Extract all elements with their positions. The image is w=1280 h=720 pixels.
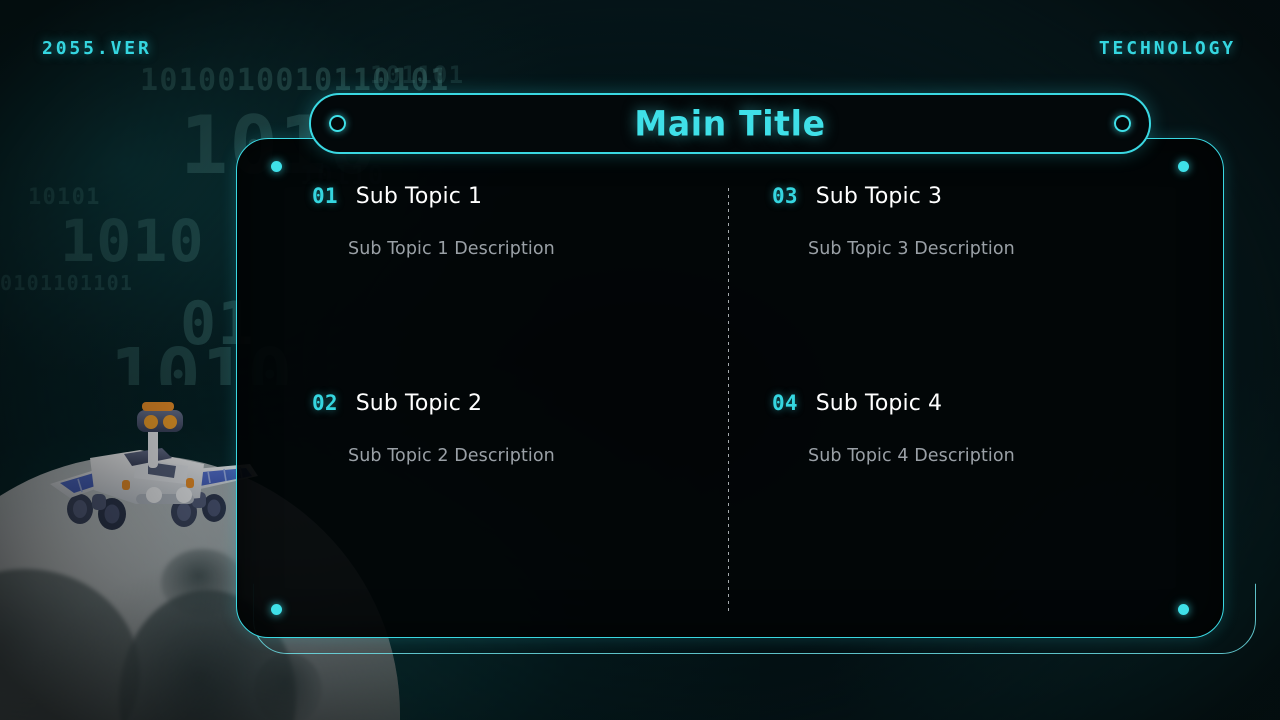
rover-chassis xyxy=(90,448,204,504)
moon-crater xyxy=(161,549,244,617)
topic-item-04[interactable]: 04 Sub Topic 4 Sub Topic 4 Description xyxy=(730,391,1224,598)
slide-canvas: 1010010010110101 1010 10101 1010 0101101… xyxy=(0,0,1280,720)
topic-number: 02 xyxy=(312,391,338,415)
topic-heading: 04 Sub Topic 4 xyxy=(772,391,1168,416)
topic-title: Sub Topic 3 xyxy=(816,184,942,209)
page-title: Main Title xyxy=(634,103,825,144)
moon-crater xyxy=(254,653,322,720)
binary-text-line: 10101 xyxy=(28,185,101,210)
rover-camera-mast xyxy=(137,402,183,468)
rover-solar-panel-left xyxy=(50,464,132,498)
topic-number: 03 xyxy=(772,184,798,208)
version-label: 2055.VER xyxy=(42,38,152,59)
ring-icon-left xyxy=(329,115,346,132)
column-divider xyxy=(728,188,729,614)
topic-description: Sub Topic 2 Description xyxy=(348,446,674,466)
topic-title: Sub Topic 2 xyxy=(356,391,482,416)
lunar-rover-illustration xyxy=(36,398,268,538)
topic-heading: 01 Sub Topic 1 xyxy=(312,184,674,209)
topic-item-01[interactable]: 01 Sub Topic 1 Sub Topic 1 Description xyxy=(236,184,730,391)
ring-icon-right xyxy=(1114,115,1131,132)
topic-heading: 03 Sub Topic 3 xyxy=(772,184,1168,209)
category-label: TECHNOLOGY xyxy=(1099,38,1236,59)
main-title-bar: Main Title xyxy=(309,93,1151,154)
topic-description: Sub Topic 4 Description xyxy=(808,446,1168,466)
topic-heading: 02 Sub Topic 2 xyxy=(312,391,674,416)
topic-number: 04 xyxy=(772,391,798,415)
slide-header: 2055.VER TECHNOLOGY xyxy=(0,0,1280,92)
topic-title: Sub Topic 1 xyxy=(356,184,482,209)
moon-crater xyxy=(0,569,140,720)
binary-text-line: 1010 xyxy=(60,207,205,275)
topic-description: Sub Topic 1 Description xyxy=(348,239,674,259)
topic-title: Sub Topic 4 xyxy=(816,391,942,416)
topic-item-03[interactable]: 03 Sub Topic 3 Sub Topic 3 Description xyxy=(730,184,1224,391)
topic-description: Sub Topic 3 Description xyxy=(808,239,1168,259)
rover-wheels xyxy=(67,492,226,530)
binary-text-line: 0101101101 xyxy=(0,271,133,295)
topic-number: 01 xyxy=(312,184,338,208)
topics-grid: 01 Sub Topic 1 Sub Topic 1 Description 0… xyxy=(236,138,1224,638)
rover-icon xyxy=(36,398,268,538)
topic-item-02[interactable]: 02 Sub Topic 2 Sub Topic 2 Description xyxy=(236,391,730,598)
